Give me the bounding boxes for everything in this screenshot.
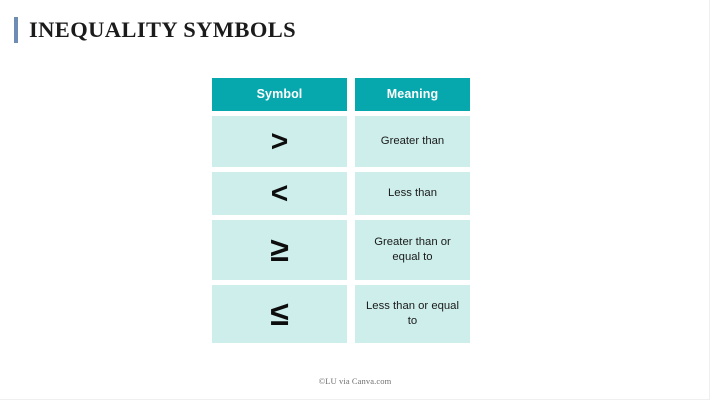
table-row: > Greater than	[212, 116, 470, 167]
greater-than-or-equal-symbol: ≥	[270, 235, 289, 266]
table-cell-symbol: ≥	[212, 220, 347, 280]
table-header-row: Symbol Meaning	[212, 78, 470, 111]
table-header-cell-symbol: Symbol	[212, 78, 347, 111]
table-cell-meaning: Greater than	[355, 116, 470, 167]
table-cell-symbol: ≤	[212, 285, 347, 343]
table-header-cell-meaning: Meaning	[355, 78, 470, 111]
inequality-symbols-table: Symbol Meaning > Greater than < Less tha…	[212, 78, 470, 343]
table-header-label-symbol: Symbol	[257, 88, 303, 101]
less-than-symbol: <	[271, 180, 289, 207]
meaning-label: Greater than	[375, 134, 450, 149]
page-title: INEQUALITY SYMBOLS	[29, 19, 296, 42]
meaning-label: Greater than or equal to	[355, 235, 470, 265]
table-cell-symbol: <	[212, 172, 347, 215]
table-row: ≥ Greater than or equal to	[212, 220, 470, 280]
table-cell-meaning: Less than	[355, 172, 470, 215]
title-accent-bar	[14, 17, 18, 43]
greater-than-symbol: >	[271, 128, 289, 155]
footer-credit: ©LU via Canva.com	[0, 376, 710, 386]
table-row: ≤ Less than or equal to	[212, 285, 470, 343]
meaning-label: Less than	[382, 186, 443, 201]
table-row: < Less than	[212, 172, 470, 215]
table-cell-symbol: >	[212, 116, 347, 167]
table-header-label-meaning: Meaning	[387, 88, 438, 101]
less-than-or-equal-symbol: ≤	[270, 299, 289, 330]
meaning-label: Less than or equal to	[355, 299, 470, 329]
slide-canvas: INEQUALITY SYMBOLS Symbol Meaning > Grea…	[0, 0, 710, 400]
table-cell-meaning: Less than or equal to	[355, 285, 470, 343]
table-cell-meaning: Greater than or equal to	[355, 220, 470, 280]
page-title-block: INEQUALITY SYMBOLS	[14, 16, 296, 44]
